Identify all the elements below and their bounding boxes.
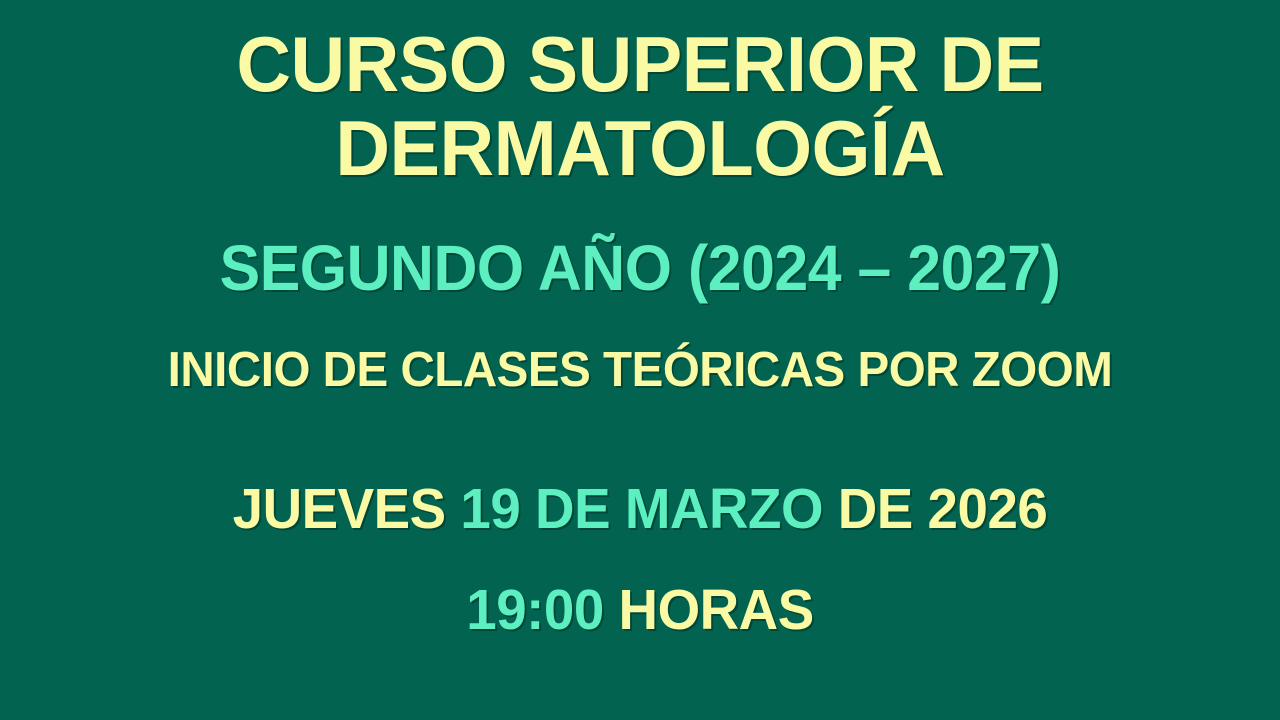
- class-date-day-month: 19 DE MARZO: [446, 477, 838, 541]
- class-date: JUEVES 19 DE MARZO DE 2026: [26, 481, 1255, 538]
- class-time: 19:00 HORAS: [26, 582, 1255, 639]
- classes-start-heading: INICIO DE CLASES TEÓRICAS POR ZOOM: [19, 346, 1261, 395]
- course-title: CURSO SUPERIOR DE DERMATOLOGÍA: [19, 22, 1261, 190]
- class-time-value: 19:00: [466, 578, 604, 642]
- class-date-weekday: JUEVES: [233, 477, 446, 541]
- course-title-line-1: CURSO SUPERIOR DE: [19, 22, 1261, 106]
- announcement-slide: CURSO SUPERIOR DE DERMATOLOGÍA SEGUNDO A…: [0, 0, 1280, 720]
- course-year-subtitle: SEGUNDO AÑO (2024 – 2027): [32, 236, 1248, 300]
- course-title-line-2: DERMATOLOGÍA: [19, 106, 1261, 190]
- class-time-unit: HORAS: [604, 578, 814, 642]
- class-date-year: DE 2026: [838, 477, 1048, 541]
